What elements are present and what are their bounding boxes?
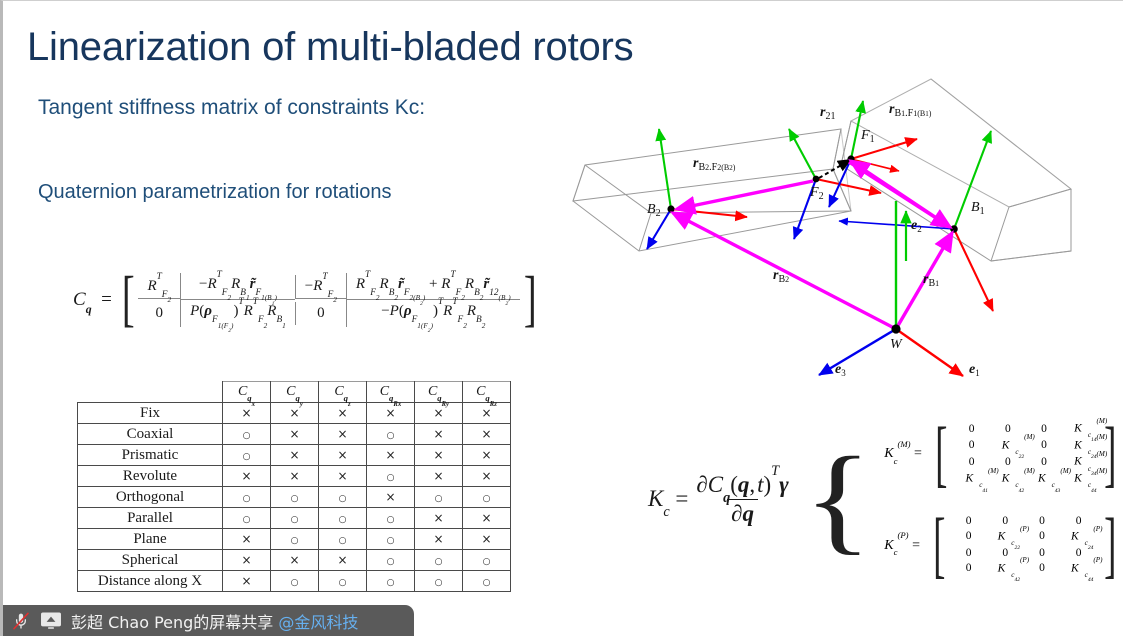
- km-cell: Kc22(M): [990, 438, 1026, 455]
- circle-icon: ○: [387, 431, 395, 441]
- constraint-name: Coaxial: [78, 424, 223, 445]
- table-row: Orthogonal○○○×○○: [78, 487, 511, 508]
- constraint-cell: ×: [271, 466, 319, 487]
- column-header-cqy: Cqy: [271, 382, 319, 403]
- cross-icon: ×: [385, 448, 395, 462]
- circle-icon: ○: [483, 494, 491, 504]
- constraint-cell: ×: [319, 550, 367, 571]
- table-row: Prismatic○×××××: [78, 445, 511, 466]
- kc-matrices: Kc(M) = [ 0 0 0 Kc14(M) 0 Kc22(M) 0 Kc24…: [884, 421, 1123, 577]
- constraint-cell: ○: [319, 508, 367, 529]
- constraints-table-body: Fix××××××Coaxial○××○××Prismatic○×××××Rev…: [78, 403, 511, 592]
- constraint-cell: ×: [319, 445, 367, 466]
- table-corner-cell: [78, 382, 223, 403]
- kc-denominator: ∂q: [727, 499, 758, 527]
- label-f1: F1: [860, 128, 875, 145]
- screen-share-glyph: [40, 611, 62, 630]
- constraint-cell: ×: [367, 487, 415, 508]
- kp-cell: 0: [1025, 514, 1059, 529]
- cross-icon: ×: [337, 448, 347, 462]
- label-rb2f2: rB2.F2(B2): [693, 156, 736, 173]
- diagram-svg: B2 B1 F2 F1 W r21 rB2.F2(B2) rB1.F1(B1): [551, 61, 1111, 391]
- table-row: Distance along X×○○○○○: [78, 571, 511, 592]
- kc-matrix-p: Kc(P) = [ 0 0 0 0 0 Kc22(P) 0 Kc24(P) 0 …: [884, 514, 1123, 577]
- subtitle-tangent-stiffness: Tangent stiffness matrix of constraints …: [38, 96, 425, 120]
- kc-fraction: ∂Cq(q, t)Tγ ∂q: [692, 472, 792, 527]
- column-header-cqz: Cqz: [319, 382, 367, 403]
- kc-matrix-m-grid: 0 0 0 Kc14(M) 0 Kc22(M) 0 Kc24(M) 0 0 0 …: [954, 421, 1099, 488]
- constraint-cell: ×: [319, 466, 367, 487]
- table-header-row: Cqx Cqy Cqz CqRx CqRy CqRz: [78, 382, 511, 403]
- cross-icon: ×: [241, 553, 251, 567]
- matrix-m-bracket-left: [: [935, 429, 947, 481]
- constraint-name: Plane: [78, 529, 223, 550]
- constraint-cell: ×: [271, 403, 319, 424]
- kc-equation: Kc = ∂Cq(q, t)Tγ ∂q: [648, 472, 797, 527]
- constraint-cell: ○: [367, 424, 415, 445]
- constraint-cell: ○: [271, 487, 319, 508]
- cross-icon: ×: [289, 469, 299, 483]
- circle-icon: ○: [339, 536, 347, 546]
- constraint-cell: ○: [415, 571, 463, 592]
- circle-icon: ○: [435, 494, 443, 504]
- constraint-cell: ○: [319, 529, 367, 550]
- circle-icon: ○: [387, 536, 395, 546]
- constraint-name: Spherical: [78, 550, 223, 571]
- kc-matrix-m-label: Kc(M) =: [884, 446, 922, 462]
- point-b2: [667, 205, 674, 212]
- point-b1: [950, 225, 958, 233]
- constraint-name: Revolute: [78, 466, 223, 487]
- constraint-cell: ○: [415, 550, 463, 571]
- subtitle-quaternion: Quaternion parametrization for rotations: [38, 181, 392, 204]
- constraint-cell: ×: [415, 466, 463, 487]
- column-header-cqrx: CqRx: [367, 382, 415, 403]
- circle-icon: ○: [243, 515, 251, 525]
- cross-icon: ×: [481, 511, 491, 525]
- cq-matrix-grid: RTF2 −RTF2RB1r̃F1(B1) −RTF2 RTF2RB2r̃F2(…: [138, 273, 519, 327]
- cross-icon: ×: [481, 532, 491, 546]
- cross-icon: ×: [481, 448, 491, 462]
- cq-cell-r1c1: RTF2: [138, 275, 180, 299]
- constraint-cell: ×: [319, 403, 367, 424]
- constraint-cell: ○: [367, 571, 415, 592]
- constraint-cell: ×: [271, 424, 319, 445]
- constraint-cell: ○: [271, 508, 319, 529]
- constraint-cell: ×: [415, 445, 463, 466]
- vector-rb1f1: [851, 161, 950, 227]
- label-f2: F2: [809, 185, 824, 202]
- cross-icon: ×: [481, 469, 491, 483]
- circle-icon: ○: [291, 494, 299, 504]
- cross-icon: ×: [289, 448, 299, 462]
- column-header-cqry: CqRy: [415, 382, 463, 403]
- label-w: W: [890, 337, 903, 352]
- label-e3: e3: [835, 362, 846, 378]
- circle-icon: ○: [387, 473, 395, 483]
- circle-icon: ○: [243, 431, 251, 441]
- kp-cell: Kc42(P): [986, 561, 1025, 578]
- circle-icon: ○: [291, 515, 299, 525]
- constraint-cell: ×: [415, 508, 463, 529]
- constraints-table-head: Cqx Cqy Cqz CqRx CqRy CqRz: [78, 382, 511, 403]
- constraints-table: Cqx Cqy Cqz CqRx CqRy CqRz Fix××××××Coax…: [77, 381, 511, 592]
- label-rb1: rB1: [923, 272, 939, 289]
- curly-brace-icon: {: [803, 462, 872, 536]
- constraint-cell: ×: [367, 445, 415, 466]
- constraint-cell: ×: [463, 529, 511, 550]
- cross-icon: ×: [481, 427, 491, 441]
- km-cell: 0: [954, 421, 990, 438]
- kc-equation-block: Kc = ∂Cq(q, t)Tγ ∂q { Kc(M) = [ 0 0 0 Kc…: [648, 421, 1123, 577]
- constraint-cell: ×: [367, 403, 415, 424]
- kc-numerator: ∂Cq(q, t)Tγ: [692, 472, 792, 499]
- constraint-cell: ○: [271, 571, 319, 592]
- bracket-left: [: [122, 277, 135, 322]
- km-cell: 0: [990, 421, 1026, 438]
- constraint-cell: ×: [223, 571, 271, 592]
- circle-icon: ○: [243, 452, 251, 462]
- constraint-cell: ○: [271, 529, 319, 550]
- constraint-cell: ×: [463, 424, 511, 445]
- kp-cell: Kc44(P): [1059, 561, 1098, 578]
- cross-icon: ×: [241, 574, 251, 588]
- screen-share-bar[interactable]: 彭超 Chao Peng的屏幕共享 @金风科技: [3, 605, 414, 636]
- table-row: Parallel○○○○××: [78, 508, 511, 529]
- kp-cell: Kc24(P): [1059, 529, 1098, 546]
- point-f2: [813, 176, 820, 183]
- circle-icon: ○: [387, 515, 395, 525]
- cq-equation-lhs: Cq =: [73, 289, 112, 311]
- frame-b2-axes: [647, 129, 747, 249]
- circle-icon: ○: [435, 557, 443, 567]
- kc-matrix-p-label: Kc(P) =: [884, 538, 920, 554]
- cross-icon: ×: [337, 553, 347, 567]
- cross-icon: ×: [241, 406, 251, 420]
- kp-cell: 0: [1025, 561, 1059, 578]
- cross-icon: ×: [433, 511, 443, 525]
- cq-cell-r1c3: −RTF2: [295, 275, 346, 299]
- microphone-muted-icon[interactable]: [11, 611, 31, 631]
- cross-icon: ×: [433, 427, 443, 441]
- label-b2: B2: [647, 202, 661, 219]
- constraint-cell: ○: [223, 487, 271, 508]
- constraint-cell: ○: [367, 466, 415, 487]
- kc-matrix-p-grid: 0 0 0 0 0 Kc22(P) 0 Kc24(P) 0 0 0 0 0 Kc…: [952, 514, 1099, 577]
- label-b1: B1: [971, 200, 985, 217]
- constraint-cell: ×: [415, 424, 463, 445]
- company-tag: @金风科技: [278, 609, 358, 633]
- constraint-cell: ×: [463, 466, 511, 487]
- presenter-name: 彭超 Chao Peng的屏幕共享: [71, 609, 273, 633]
- constraint-cell: ○: [223, 445, 271, 466]
- kp-cell: 0: [952, 546, 986, 561]
- constraint-cell: ×: [463, 445, 511, 466]
- cq-cell-r2c1: 0: [138, 302, 180, 325]
- circle-icon: ○: [339, 515, 347, 525]
- toolbar-stub: [414, 605, 504, 610]
- constraint-cell: ×: [223, 466, 271, 487]
- cross-icon: ×: [433, 469, 443, 483]
- kp-cell: 0: [952, 561, 986, 578]
- label-rb1f1: rB1.F1(B1): [889, 102, 932, 119]
- constraint-cell: ○: [367, 529, 415, 550]
- label-e2: e2: [911, 218, 922, 234]
- circle-icon: ○: [483, 578, 491, 588]
- cross-icon: ×: [433, 532, 443, 546]
- multibody-diagram: B2 B1 F2 F1 W r21 rB2.F2(B2) rB1.F1(B1): [551, 61, 1111, 391]
- cq-equation: Cq = [ RTF2 −RTF2RB1r̃F1(B1) −RTF2 RTF2R…: [73, 273, 540, 327]
- constraint-cell: ×: [271, 550, 319, 571]
- kc-equation-lhs: Kc =: [648, 486, 688, 512]
- constraint-cell: ○: [319, 571, 367, 592]
- constraint-cell: ×: [223, 550, 271, 571]
- kp-cell: 0: [952, 529, 986, 546]
- constraint-cell: ○: [463, 550, 511, 571]
- cross-icon: ×: [289, 427, 299, 441]
- km-cell: Kc41(M): [954, 471, 990, 488]
- vector-rb2: [673, 213, 896, 329]
- constraint-cell: ×: [463, 508, 511, 529]
- constraint-cell: ×: [319, 424, 367, 445]
- matrix-m-bracket-right: ]: [1105, 429, 1117, 481]
- constraint-name: Distance along X: [78, 571, 223, 592]
- circle-icon: ○: [243, 494, 251, 504]
- km-cell: Kc14(M): [1062, 421, 1098, 438]
- column-header-cqx: Cqx: [223, 382, 271, 403]
- circle-icon: ○: [291, 578, 299, 588]
- constraint-cell: ○: [223, 424, 271, 445]
- constraint-cell: ×: [415, 529, 463, 550]
- circle-icon: ○: [339, 494, 347, 504]
- constraint-cell: ○: [367, 550, 415, 571]
- constraint-cell: ○: [223, 508, 271, 529]
- kp-cell: Kc22(P): [986, 529, 1025, 546]
- cross-icon: ×: [337, 406, 347, 420]
- kp-cell: 0: [1025, 529, 1059, 546]
- circle-icon: ○: [435, 578, 443, 588]
- cross-icon: ×: [337, 427, 347, 441]
- screen-share-icon[interactable]: [40, 611, 62, 630]
- matrix-p-bracket-left: [: [933, 520, 945, 572]
- cq-cell-r1c4: RTF2RB2r̃F2(B2) + RTF2RB2r̃12(B2): [346, 273, 520, 300]
- constraint-name: Fix: [78, 403, 223, 424]
- constraint-cell: ×: [223, 403, 271, 424]
- circle-icon: ○: [387, 578, 395, 588]
- matrix-p-bracket-right: ]: [1105, 520, 1117, 572]
- constraint-cell: ○: [415, 487, 463, 508]
- page-title: Linearization of multi-bladed rotors: [27, 25, 633, 70]
- constraint-cell: ×: [463, 403, 511, 424]
- label-e1: e1: [969, 362, 980, 378]
- column-header-cqrz: CqRz: [463, 382, 511, 403]
- label-r21: r21: [820, 105, 835, 122]
- cross-icon: ×: [289, 406, 299, 420]
- constraint-name: Parallel: [78, 508, 223, 529]
- constraint-cell: ×: [223, 529, 271, 550]
- cross-icon: ×: [433, 448, 443, 462]
- cross-icon: ×: [241, 532, 251, 546]
- km-cell: 0: [954, 454, 990, 471]
- constraint-cell: ○: [463, 571, 511, 592]
- slide-canvas: Linearization of multi-bladed rotors Tan…: [0, 0, 1123, 636]
- circle-icon: ○: [387, 557, 395, 567]
- table-row: Plane×○○○××: [78, 529, 511, 550]
- bracket-right: ]: [524, 277, 537, 322]
- cross-icon: ×: [337, 469, 347, 483]
- cq-cell-r2c3: 0: [295, 302, 346, 325]
- constraint-cell: ○: [463, 487, 511, 508]
- constraint-cell: ×: [271, 445, 319, 466]
- table-row: Coaxial○××○××: [78, 424, 511, 445]
- microphone-muted-glyph: [11, 611, 31, 631]
- kc-matrix-m: Kc(M) = [ 0 0 0 Kc14(M) 0 Kc22(M) 0 Kc24…: [884, 421, 1123, 488]
- circle-icon: ○: [339, 578, 347, 588]
- point-w: [891, 324, 900, 333]
- circle-icon: ○: [291, 536, 299, 546]
- constraint-cell: ○: [367, 508, 415, 529]
- cross-icon: ×: [241, 469, 251, 483]
- cq-cell-r2c2: P(ρF1(F2))TRTF2RB1: [180, 300, 295, 326]
- constraint-name: Orthogonal: [78, 487, 223, 508]
- constraint-cell: ×: [415, 403, 463, 424]
- cross-icon: ×: [289, 553, 299, 567]
- km-cell: 0: [954, 438, 990, 455]
- table-row: Spherical×××○○○: [78, 550, 511, 571]
- table-row: Revolute×××○××: [78, 466, 511, 487]
- cross-icon: ×: [385, 490, 395, 504]
- constraint-name: Prismatic: [78, 445, 223, 466]
- circle-icon: ○: [483, 557, 491, 567]
- kp-cell: 0: [952, 514, 986, 529]
- kp-cell: 0: [1025, 546, 1059, 561]
- cq-cell-r2c4: −P(ρF1(F2))TRTF2RB2: [346, 300, 520, 326]
- constraint-cell: ○: [319, 487, 367, 508]
